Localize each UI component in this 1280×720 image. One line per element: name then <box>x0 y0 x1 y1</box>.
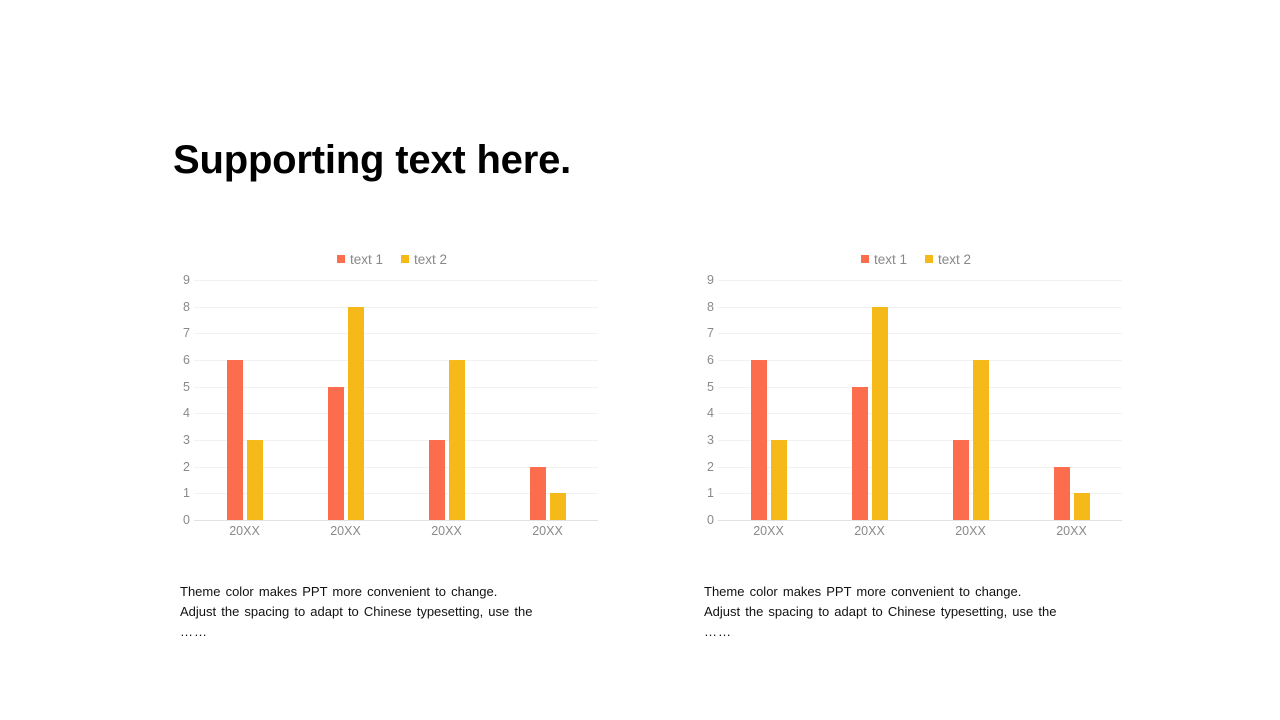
bar-text-1[interactable] <box>751 360 767 520</box>
x-axis-tick-label: 20XX <box>920 524 1021 538</box>
y-axis-right: 0123456789 <box>692 280 714 520</box>
y-axis-tick-label: 6 <box>183 354 190 367</box>
bar-text-1[interactable] <box>953 440 969 520</box>
bar-text-1[interactable] <box>429 440 445 520</box>
bar-chart-right: 0123456789 20XX20XX20XX20XX <box>692 280 1122 528</box>
y-axis-tick-label: 9 <box>707 274 714 287</box>
legend-item-text-1[interactable]: text 1 <box>861 252 907 267</box>
bar-text-2[interactable] <box>973 360 989 520</box>
y-axis-tick-label: 9 <box>183 274 190 287</box>
square-marker-icon <box>925 255 933 263</box>
bar-text-2[interactable] <box>872 307 888 520</box>
x-axis-tick-label: 20XX <box>194 524 295 538</box>
legend-label: text 2 <box>414 252 447 267</box>
bar-text-2[interactable] <box>449 360 465 520</box>
y-axis-tick-label: 1 <box>707 487 714 500</box>
x-axis-tick-label: 20XX <box>1021 524 1122 538</box>
slide-canvas: Supporting text here. text 1 text 2 0123… <box>0 0 1280 720</box>
y-axis-tick-label: 0 <box>183 514 190 527</box>
bar-group <box>1021 280 1122 520</box>
y-axis-tick-label: 5 <box>183 380 190 393</box>
bar-group <box>718 280 819 520</box>
bar-group <box>396 280 497 520</box>
panel-caption-right: Theme color makes PPT more convenient to… <box>704 582 1116 642</box>
legend-label: text 1 <box>350 252 383 267</box>
legend-item-text-2[interactable]: text 2 <box>925 252 971 267</box>
y-axis-tick-label: 7 <box>707 327 714 340</box>
x-axis-tick-label: 20XX <box>295 524 396 538</box>
square-marker-icon <box>401 255 409 263</box>
y-axis-tick-label: 8 <box>183 300 190 313</box>
bar-text-1[interactable] <box>227 360 243 520</box>
caption-line-1: Theme color makes PPT more convenient to… <box>180 584 497 599</box>
y-axis-tick-label: 3 <box>183 434 190 447</box>
chart-legend-left: text 1 text 2 <box>186 248 598 270</box>
bar-text-1[interactable] <box>852 387 868 520</box>
bar-text-1[interactable] <box>1054 467 1070 520</box>
bar-group <box>295 280 396 520</box>
y-axis-tick-label: 0 <box>707 514 714 527</box>
bar-group <box>497 280 598 520</box>
y-axis-tick-label: 1 <box>183 487 190 500</box>
caption-line-3: …… <box>704 622 1116 642</box>
y-axis-left: 0123456789 <box>168 280 190 520</box>
chart-legend-right: text 1 text 2 <box>710 248 1122 270</box>
y-axis-tick-label: 5 <box>707 380 714 393</box>
legend-item-text-1[interactable]: text 1 <box>337 252 383 267</box>
bar-groups <box>718 280 1122 520</box>
bar-group <box>194 280 295 520</box>
y-axis-tick-label: 2 <box>183 460 190 473</box>
y-axis-tick-label: 2 <box>707 460 714 473</box>
y-axis-tick-label: 4 <box>707 407 714 420</box>
y-axis-tick-label: 7 <box>183 327 190 340</box>
bar-text-2[interactable] <box>1074 493 1090 520</box>
caption-line-2: Adjust the spacing to adapt to Chinese t… <box>180 604 532 619</box>
plot-area-left <box>194 280 598 520</box>
bar-text-2[interactable] <box>550 493 566 520</box>
x-axis-tick-label: 20XX <box>396 524 497 538</box>
x-axis-tick-label: 20XX <box>819 524 920 538</box>
bar-text-2[interactable] <box>348 307 364 520</box>
caption-line-1: Theme color makes PPT more convenient to… <box>704 584 1021 599</box>
x-axis-tick-label: 20XX <box>497 524 598 538</box>
bar-groups <box>194 280 598 520</box>
bar-group <box>920 280 1021 520</box>
bar-text-2[interactable] <box>247 440 263 520</box>
bar-chart-left: 0123456789 20XX20XX20XX20XX <box>168 280 598 528</box>
x-axis-left: 20XX20XX20XX20XX <box>194 524 598 538</box>
y-axis-tick-label: 4 <box>183 407 190 420</box>
chart-panel-left: text 1 text 2 0123456789 20XX20XX20XX20X… <box>168 248 598 528</box>
panel-caption-left: Theme color makes PPT more convenient to… <box>180 582 592 642</box>
y-axis-tick-label: 3 <box>707 434 714 447</box>
axis-baseline <box>194 520 598 521</box>
square-marker-icon <box>337 255 345 263</box>
legend-item-text-2[interactable]: text 2 <box>401 252 447 267</box>
axis-baseline <box>718 520 1122 521</box>
x-axis-right: 20XX20XX20XX20XX <box>718 524 1122 538</box>
bar-group <box>819 280 920 520</box>
legend-label: text 2 <box>938 252 971 267</box>
plot-area-right <box>718 280 1122 520</box>
page-title: Supporting text here. <box>173 136 571 184</box>
bar-text-2[interactable] <box>771 440 787 520</box>
square-marker-icon <box>861 255 869 263</box>
chart-panel-right: text 1 text 2 0123456789 20XX20XX20XX20X… <box>692 248 1122 528</box>
caption-line-3: …… <box>180 622 592 642</box>
y-axis-tick-label: 8 <box>707 300 714 313</box>
caption-line-2: Adjust the spacing to adapt to Chinese t… <box>704 604 1056 619</box>
bar-text-1[interactable] <box>530 467 546 520</box>
x-axis-tick-label: 20XX <box>718 524 819 538</box>
bar-text-1[interactable] <box>328 387 344 520</box>
legend-label: text 1 <box>874 252 907 267</box>
y-axis-tick-label: 6 <box>707 354 714 367</box>
